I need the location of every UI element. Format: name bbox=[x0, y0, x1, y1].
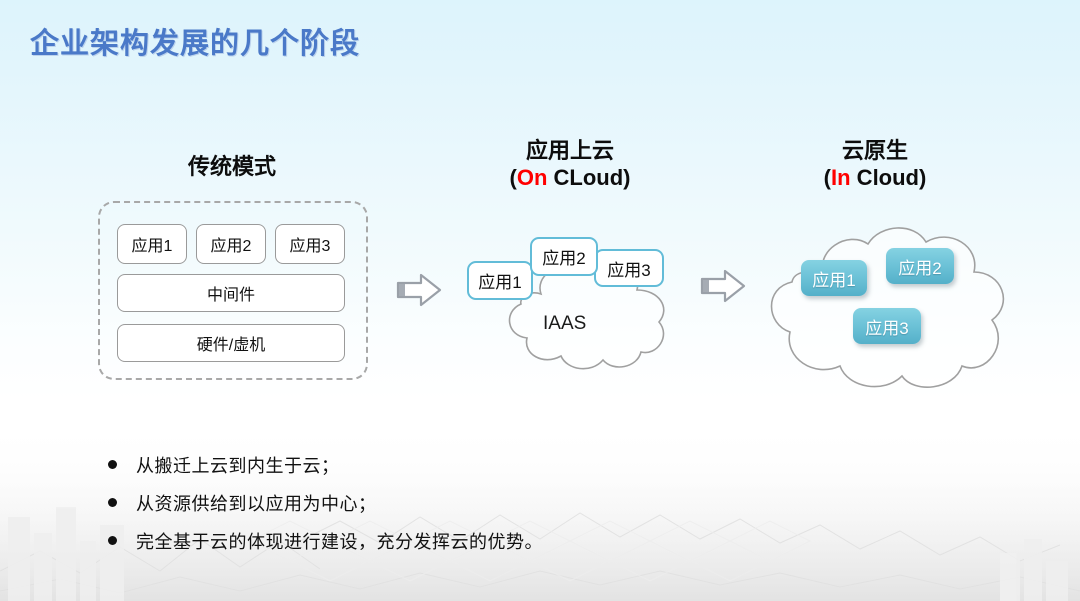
traditional-hardware-box[interactable]: 硬件/虚机 bbox=[117, 324, 345, 362]
panel-traditional-heading: 传统模式 bbox=[132, 154, 332, 181]
oncloud-accent-word: On bbox=[517, 165, 548, 190]
bullet-text: 完全基于云的体现进行建设，充分发挥云的优势。 bbox=[136, 528, 543, 554]
bullet-item: 从搬迁上云到内生于云； bbox=[108, 452, 808, 478]
bullet-text: 从搬迁上云到内生于云； bbox=[136, 452, 340, 478]
right-arrow-icon-1 bbox=[396, 272, 442, 308]
bullet-text: 从资源供给到以应用为中心； bbox=[136, 490, 377, 516]
bullet-dot-icon bbox=[108, 460, 117, 469]
cloudnative-accent-word: In bbox=[831, 165, 851, 190]
right-arrow-icon-2 bbox=[700, 268, 746, 304]
bullet-list: 从搬迁上云到内生于云； 从资源供给到以应用为中心； 完全基于云的体现进行建设，充… bbox=[108, 452, 808, 566]
traditional-middleware-box[interactable]: 中间件 bbox=[117, 274, 345, 312]
cloudnative-rest-word: Cloud bbox=[851, 165, 919, 190]
oncloud-paren-open: ( bbox=[510, 165, 517, 190]
cloudnative-app2-chip[interactable]: 应用2 bbox=[886, 248, 954, 284]
panel-cloudnative-heading: 云原生 (In Cloud) bbox=[775, 138, 975, 192]
traditional-app1-box[interactable]: 应用1 bbox=[117, 224, 187, 264]
bullet-dot-icon bbox=[108, 536, 117, 545]
cloudnative-app3-chip[interactable]: 应用3 bbox=[853, 308, 921, 344]
panel-traditional-heading-line1: 传统模式 bbox=[132, 154, 332, 181]
oncloud-app2-chip[interactable]: 应用2 bbox=[530, 237, 598, 276]
traditional-app2-box[interactable]: 应用2 bbox=[196, 224, 266, 264]
panel-oncloud-heading-line2: (On CLoud) bbox=[470, 165, 670, 192]
slide-title: 企业架构发展的几个阶段 bbox=[30, 20, 360, 62]
iaas-cloud-label: IAAS bbox=[543, 313, 586, 335]
cloudnative-paren-close: ) bbox=[919, 165, 926, 190]
oncloud-paren-close: ) bbox=[623, 165, 630, 190]
oncloud-app1-chip[interactable]: 应用1 bbox=[467, 261, 533, 300]
bullet-dot-icon bbox=[108, 498, 117, 507]
cloudnative-paren-open: ( bbox=[824, 165, 831, 190]
bullet-item: 完全基于云的体现进行建设，充分发挥云的优势。 bbox=[108, 528, 808, 554]
cloudnative-app1-chip[interactable]: 应用1 bbox=[801, 260, 867, 296]
panel-cloudnative-heading-line1: 云原生 bbox=[775, 138, 975, 165]
bullet-item: 从资源供给到以应用为中心； bbox=[108, 490, 808, 516]
oncloud-app3-chip[interactable]: 应用3 bbox=[594, 249, 664, 287]
panel-cloudnative-heading-line2: (In Cloud) bbox=[775, 165, 975, 192]
panel-oncloud-heading-line1: 应用上云 bbox=[470, 138, 670, 165]
traditional-app3-box[interactable]: 应用3 bbox=[275, 224, 345, 264]
panel-oncloud-heading: 应用上云 (On CLoud) bbox=[470, 138, 670, 192]
slide-canvas: 企业架构发展的几个阶段 传统模式 应用1 应用2 应用3 中间件 硬件/虚机 应… bbox=[0, 0, 1080, 601]
oncloud-rest-word: CLoud bbox=[547, 165, 623, 190]
